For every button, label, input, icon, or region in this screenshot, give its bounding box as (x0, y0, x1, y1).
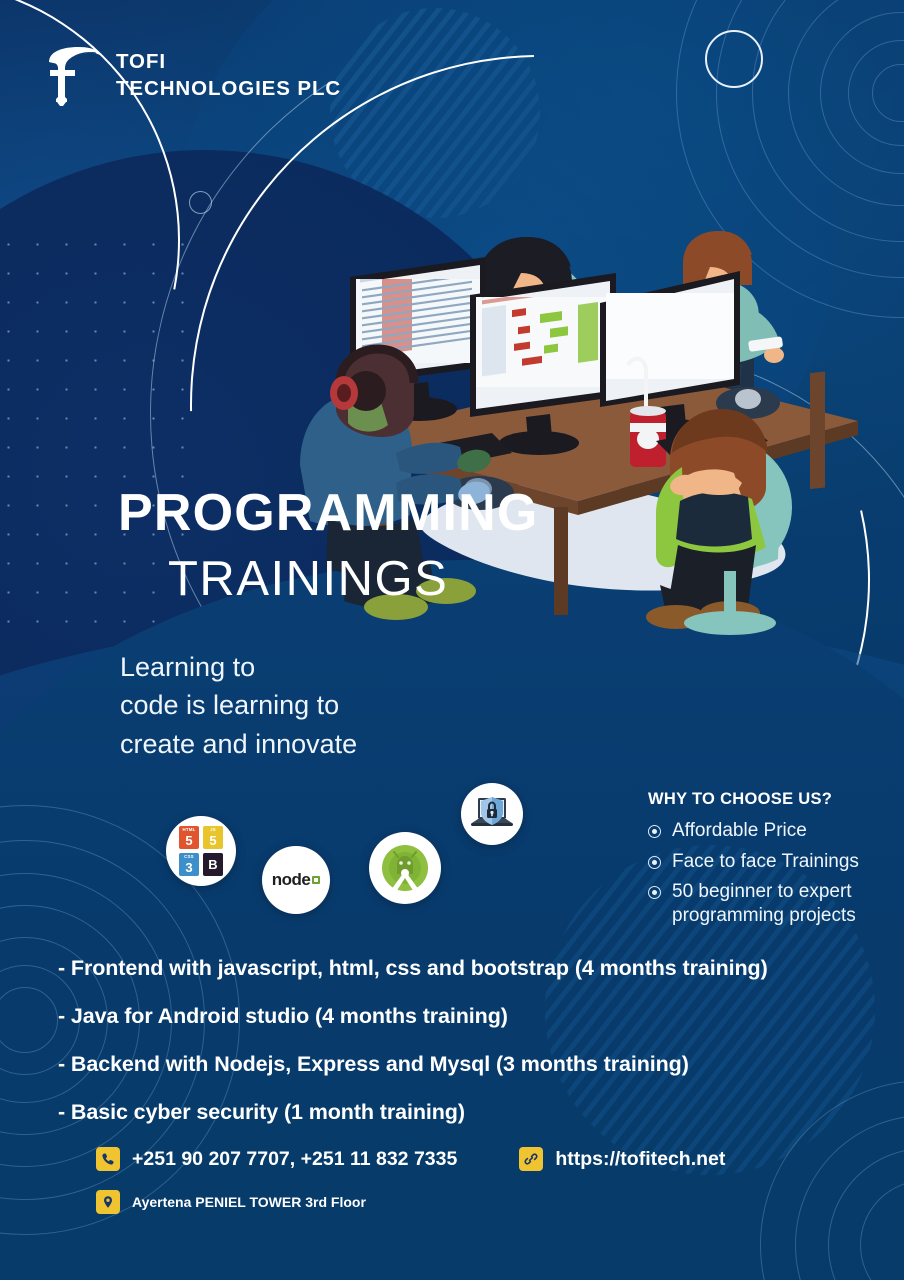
js-tile-label: 5 (209, 833, 216, 848)
tofi-torch-logo-icon (44, 44, 102, 106)
bg-rings-tr-3 (752, 0, 904, 242)
radio-bullet-icon (648, 856, 661, 869)
css3-tile-top: CSS (179, 854, 199, 859)
bg-rings-tr-7 (872, 64, 904, 122)
contact-row-primary: +251 90 207 7707, +251 11 832 7335 https… (96, 1147, 725, 1171)
badge-nodejs[interactable]: node (262, 846, 330, 914)
courses-list: - Frontend with javascript, html, css an… (58, 958, 878, 1150)
bg-rings-tr-4 (788, 0, 904, 206)
why-item-label: Face to face Trainings (672, 850, 859, 874)
why-item-label: Affordable Price (672, 819, 807, 843)
why-item: Face to face Trainings (648, 850, 898, 874)
badge-web-stack[interactable]: HTML5 JS5 CSS3 B (166, 816, 236, 886)
why-item: Affordable Price (648, 819, 898, 843)
nodejs-hex-mark (312, 876, 320, 884)
why-choose-us-section: WHY TO CHOOSE US? Affordable Price Face … (648, 790, 898, 934)
bg-rings-tr-5 (820, 12, 904, 174)
contact-row-address: Ayertena PENIEL TOWER 3rd Floor (96, 1190, 725, 1214)
laptop-lock-icon (469, 792, 515, 836)
course-item: - Backend with Nodejs, Express and Mysql… (58, 1054, 878, 1076)
tagline-line: create and innovate (120, 725, 357, 763)
link-icon (519, 1147, 543, 1171)
bg-ring-open-top (705, 30, 763, 88)
html5-tile-label: 5 (185, 833, 192, 848)
badge-cyber-security[interactable] (461, 783, 523, 845)
css3-tile-label: 3 (185, 860, 192, 875)
bg-ring-open-left (189, 191, 212, 214)
course-item: - Java for Android studio (4 months trai… (58, 1006, 878, 1028)
html-css-js-bootstrap-icon: HTML5 JS5 CSS3 B (179, 826, 223, 876)
why-choose-us-title: WHY TO CHOOSE US? (648, 790, 898, 809)
bg-rings-br-3 (828, 1148, 904, 1280)
tagline-line: Learning to (120, 648, 357, 686)
css3-tile: CSS3 (179, 853, 199, 876)
html5-tile: HTML5 (179, 826, 199, 849)
headline-line1: PROGRAMMING (118, 487, 539, 539)
headline-line2: TRAININGS (168, 555, 539, 604)
bg-rings-br-4 (860, 1180, 904, 1280)
bg-rings-bl-7 (0, 987, 58, 1053)
brand-name-line2: TECHNOLOGIES PLC (116, 75, 341, 102)
radio-bullet-icon (648, 825, 661, 838)
html5-tile-top: HTML (179, 827, 199, 832)
tagline: Learning tocode is learning tocreate and… (120, 648, 357, 763)
contact-section: +251 90 207 7707, +251 11 832 7335 https… (96, 1147, 725, 1233)
brand-name: TOFI TECHNOLOGIES PLC (116, 48, 341, 102)
course-item: - Basic cyber security (1 month training… (58, 1102, 878, 1124)
brand-name-line1: TOFI (116, 48, 341, 75)
course-item: - Frontend with javascript, html, css an… (58, 958, 878, 980)
tagline-line: code is learning to (120, 686, 357, 724)
poster-canvas: TOFI TECHNOLOGIES PLC (0, 0, 904, 1280)
bootstrap-tile: B (203, 853, 223, 876)
why-item-label: 50 beginner to expert programming projec… (672, 880, 898, 927)
badge-android-studio[interactable] (369, 832, 441, 904)
bootstrap-tile-label: B (208, 857, 217, 872)
bg-rings-tr-6 (848, 40, 904, 146)
contact-website[interactable]: https://tofitech.net (555, 1148, 725, 1171)
bg-ring-open-leftlow (0, 838, 17, 868)
bg-ring-open-right (884, 963, 904, 997)
phone-icon (96, 1147, 120, 1171)
nodejs-label: node (272, 870, 311, 890)
contact-address: Ayertena PENIEL TOWER 3rd Floor (132, 1194, 366, 1210)
location-pin-icon (96, 1190, 120, 1214)
headline: PROGRAMMING TRAININGS (118, 487, 539, 604)
js-tile: JS5 (203, 826, 223, 849)
contact-phone[interactable]: +251 90 207 7707, +251 11 832 7335 (132, 1148, 457, 1171)
why-item: 50 beginner to expert programming projec… (648, 880, 898, 927)
android-studio-icon (379, 842, 431, 894)
bg-hatched-circle-top (330, 8, 540, 218)
brand-logo[interactable]: TOFI TECHNOLOGIES PLC (44, 44, 341, 106)
js-tile-top: JS (203, 827, 223, 832)
radio-bullet-icon (648, 886, 661, 899)
nodejs-icon: node (272, 870, 321, 890)
